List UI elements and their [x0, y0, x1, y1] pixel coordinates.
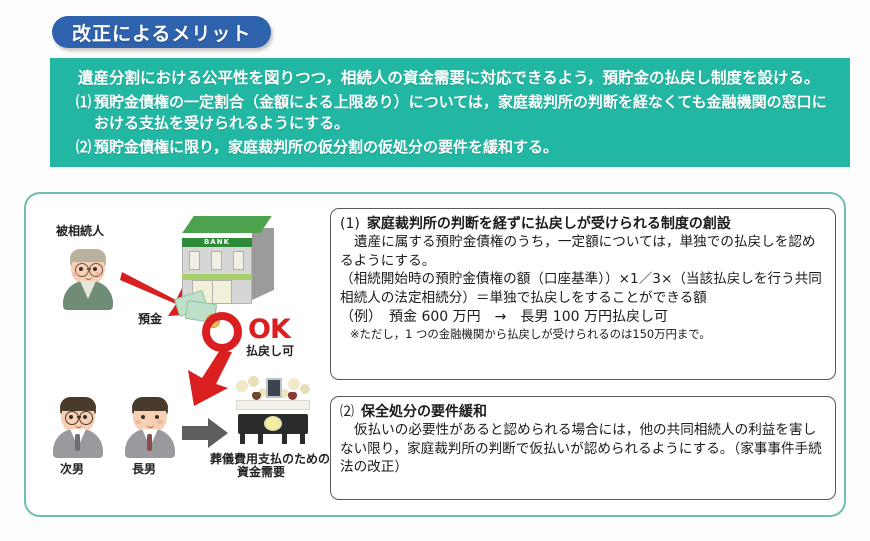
- page-title-badge: 改正によるメリット: [52, 16, 271, 48]
- cheek-left: [73, 272, 79, 276]
- summary-item-2-text: 預貯金債権に限り，家庭裁判所の仮分割の仮処分の要件を緩和する。: [94, 137, 840, 158]
- second-son-label: 次男: [60, 462, 84, 476]
- altar-legs: [238, 434, 308, 444]
- summary-item-1-number: ⑴: [64, 92, 94, 135]
- detail-box-1-number: (1): [340, 216, 360, 232]
- eye-right: [93, 267, 97, 271]
- detail-box-2-title: 保全処分の要件緩和: [361, 404, 487, 420]
- wreath: [264, 416, 282, 431]
- summary-item-1: ⑴ 預貯金債権の一定割合（金額による上限あり）については，家庭裁判所の判断を経な…: [64, 92, 840, 135]
- detail-box-2-line-1: 仮払いの必要性があると認められる場合には，他の共同相続人の利益を害しない限り，家…: [340, 421, 826, 476]
- hair-top: [132, 397, 168, 411]
- infographic-page: 改正によるメリット 遺産分割における公平性を図りつつ，相続人の資金需要に対応でき…: [0, 0, 870, 541]
- detail-box-1-title: 家庭裁判所の判断を経ずに払戻しが受けられる制度の創設: [367, 216, 731, 232]
- bank-window-1: [189, 251, 200, 270]
- cheek-right: [157, 420, 163, 424]
- bank-sidewall: [252, 228, 274, 300]
- urn-right: [288, 392, 297, 400]
- cheek-right: [95, 272, 101, 276]
- detail-box-1-line-1: 遺産に属する預貯金債権のうち，一定額については，単独での払戻しを認めるようにする…: [340, 233, 826, 270]
- glasses-bridge: [87, 268, 91, 270]
- bank-roof: [182, 216, 271, 233]
- ok-circle-mark: [202, 312, 242, 352]
- decedent-figure: [62, 248, 114, 310]
- page-title: 改正によるメリット: [72, 19, 251, 46]
- funeral-gray-arrow: [182, 416, 230, 450]
- illustration-panel: 被相続人 預金 BANK: [32, 200, 324, 510]
- eye-right: [83, 415, 87, 419]
- necktie: [75, 434, 80, 451]
- funeral-altar: [230, 376, 316, 448]
- summary-item-1-text: 預貯金債権の一定割合（金額による上限あり）については，家庭裁判所の判断を経なくて…: [94, 92, 840, 135]
- cheek-left: [135, 420, 141, 424]
- eye-right: [155, 415, 159, 419]
- glasses-bridge: [77, 416, 81, 418]
- detail-box-2: ⑵保全処分の要件緩和 仮払いの必要性があると認められる場合には，他の共同相続人の…: [330, 396, 836, 500]
- summary-lead: 遺産分割における公平性を図りつつ，相続人の資金需要に対応できるよう，預貯金の払戻…: [64, 67, 840, 90]
- deposit-label: 預金: [138, 312, 162, 326]
- flower-4: [300, 384, 310, 394]
- eye-left: [79, 267, 83, 271]
- eye-left: [141, 415, 145, 419]
- ok-label: OK: [248, 316, 290, 343]
- funeral-caption-line-2: 資金需要: [237, 465, 285, 479]
- urn-left: [252, 392, 261, 400]
- detail-box-1-note: ※ただし，1 つの金融機関から払戻しが受けられるのは150万円まで。: [340, 327, 826, 343]
- detail-box-1-heading: (1)家庭裁判所の判断を経ずに払戻しが受けられる制度の創設: [340, 215, 826, 233]
- altar-table: [236, 400, 310, 410]
- bank-window-3: [233, 251, 244, 270]
- summary-item-2-number: ⑵: [64, 137, 94, 158]
- decedent-label: 被相続人: [56, 224, 104, 238]
- flower-3: [288, 378, 300, 390]
- summary-item-2: ⑵ 預貯金債権に限り，家庭裁判所の仮分割の仮処分の要件を緩和する。: [64, 137, 840, 158]
- bank-sign: BANK: [182, 238, 252, 247]
- flower-2: [248, 376, 259, 387]
- second-son-figure: [52, 396, 104, 458]
- memorial-portrait: [266, 378, 282, 398]
- ok-sublabel: 払戻し可: [246, 342, 294, 359]
- bank-window-2: [211, 251, 222, 270]
- detail-box-2-number: ⑵: [340, 404, 354, 420]
- eldest-son-label: 長男: [132, 462, 156, 476]
- summary-band: 遺産分割における公平性を図りつつ，相続人の資金需要に対応できるよう，預貯金の払戻…: [50, 58, 850, 167]
- detail-box-2-heading: ⑵保全処分の要件緩和: [340, 403, 826, 421]
- detail-box-1-line-2: （相続開始時の預貯金債権の額（口座基準））×1／3×（当該払戻しを行う共同相続人…: [340, 270, 826, 307]
- necktie: [147, 434, 152, 451]
- hair-top: [70, 249, 106, 262]
- detail-box-1: (1)家庭裁判所の判断を経ずに払戻しが受けられる制度の創設 遺産に属する預貯金債…: [330, 208, 836, 380]
- eye-left: [69, 415, 73, 419]
- bank-sign-text: BANK: [182, 238, 252, 247]
- hair-top: [60, 397, 96, 411]
- eldest-son-figure: [124, 396, 176, 458]
- flower-1: [236, 380, 248, 392]
- detail-box-1-example: （例） 預金 600 万円 → 長男 100 万円払戻し可: [340, 308, 826, 327]
